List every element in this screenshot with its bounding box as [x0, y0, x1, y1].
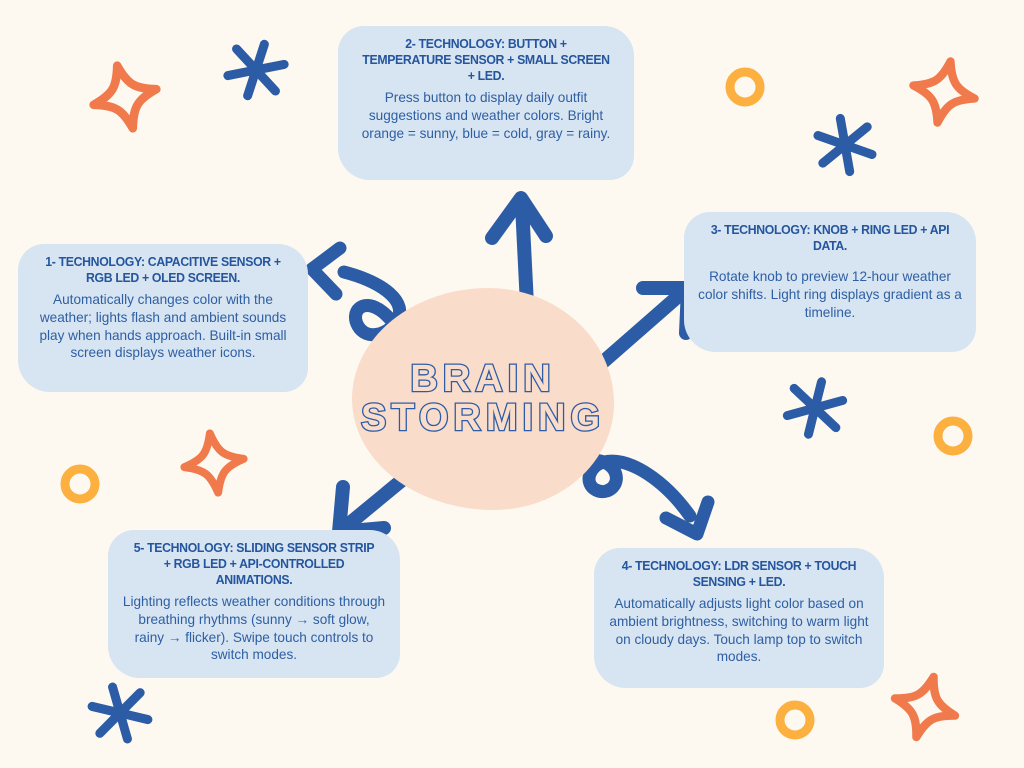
blue-sparkle-icon [816, 114, 875, 176]
idea-card-5-body: Lighting reflects weather conditions thr… [122, 593, 386, 664]
idea-card-2-title: 2- TECHNOLOGY: BUTTON + TEMPERATURE SENS… [361, 36, 610, 84]
yellow-ring-icon [938, 421, 968, 451]
orange-star-icon [886, 668, 963, 745]
yellow-ring-icon [65, 469, 95, 499]
blue-sparkle-icon [784, 376, 846, 440]
idea-card-4-title: 4- TECHNOLOGY: LDR SENSOR + TOUCH SENSIN… [617, 558, 861, 590]
center-title: BRAIN STORMING [352, 288, 614, 510]
orange-star-icon [180, 429, 248, 497]
blue-sparkle-icon [224, 37, 288, 104]
orange-star-icon [907, 55, 981, 129]
idea-card-5[interactable]: 5- TECHNOLOGY: SLIDING SENSOR STRIP + RG… [108, 530, 400, 678]
center-title-line2: STORMING [361, 399, 605, 438]
idea-card-1-title: 1- TECHNOLOGY: CAPACITIVE SENSOR + RGB L… [41, 254, 285, 286]
idea-card-3-body: Rotate knob to preview 12-hour weather c… [698, 268, 962, 321]
idea-card-1[interactable]: 1- TECHNOLOGY: CAPACITIVE SENSOR + RGB L… [18, 244, 308, 392]
arrow-to-card3 [603, 288, 688, 362]
idea-card-3-title: 3- TECHNOLOGY: KNOB + RING LED + API DAT… [707, 222, 953, 254]
yellow-ring-icon [730, 72, 760, 102]
idea-card-2-body: Press button to display daily outfit sug… [352, 89, 620, 142]
center-title-line1: BRAIN [410, 360, 555, 399]
orange-star-icon [86, 58, 164, 136]
idea-card-5-title: 5- TECHNOLOGY: SLIDING SENSOR STRIP + RG… [131, 540, 377, 588]
yellow-ring-icon [780, 705, 810, 735]
blue-sparkle-icon [89, 680, 152, 746]
idea-card-3[interactable]: 3- TECHNOLOGY: KNOB + RING LED + API DAT… [684, 212, 976, 352]
idea-card-2[interactable]: 2- TECHNOLOGY: BUTTON + TEMPERATURE SENS… [338, 26, 634, 180]
idea-card-4[interactable]: 4- TECHNOLOGY: LDR SENSOR + TOUCH SENSIN… [594, 548, 884, 688]
idea-card-1-body: Automatically changes color with the wea… [32, 291, 294, 362]
idea-card-4-body: Automatically adjusts light color based … [608, 595, 870, 666]
